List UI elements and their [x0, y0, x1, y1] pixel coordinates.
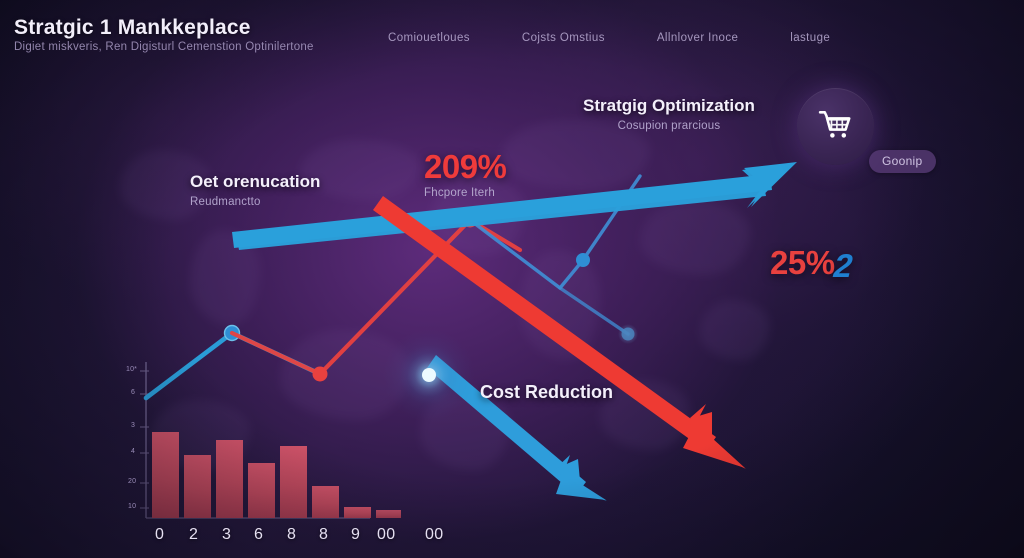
page-title: Stratgic 1 Mankkeplace: [14, 16, 251, 40]
x-tick-6: 9: [351, 526, 360, 544]
x-tick-4: 8: [287, 526, 296, 544]
stat-growth-caption: Fhcpore Iterh: [424, 187, 506, 199]
y-tick-5: 10: [128, 503, 136, 510]
label-strategic-title: Stratgig Optimization: [583, 96, 755, 116]
bar-chart-bars: [152, 432, 401, 518]
central-hub-node: [383, 329, 475, 421]
x-tick-0: 0: [155, 526, 164, 544]
nav-item-0[interactable]: Comiouetloues: [388, 32, 470, 44]
nav-item-1[interactable]: Cojsts Omstius: [522, 32, 605, 44]
y-tick-4: 20: [128, 478, 136, 485]
x-tick-5: 8: [319, 526, 328, 544]
label-strategic-optimization: Stratgig Optimization Cosupion prarcious: [583, 96, 755, 132]
nav-item-2[interactable]: Allnlover Inoce: [657, 32, 738, 44]
label-demand: Oet orenucation Reudmanctto: [190, 172, 320, 208]
label-demand-subtitle: Reudmanctto: [190, 196, 320, 208]
x-tick-8: 00: [425, 526, 444, 544]
nav-item-3[interactable]: lastuge: [790, 32, 830, 44]
x-tick-7: 00: [377, 526, 396, 544]
stat-share: 25%2: [770, 244, 852, 282]
bar-chart-y-ticks: [140, 371, 149, 508]
x-tick-2: 3: [222, 526, 231, 544]
stat-share-main: 25%: [770, 244, 835, 281]
page-subtitle: Digiet miskveris, Ren Digisturl Cemensti…: [14, 41, 314, 53]
stat-growth: 209% Fhcpore Iterh: [424, 148, 506, 199]
label-cost-reduction: Cost Reduction: [480, 382, 613, 403]
y-tick-2: 3: [131, 422, 135, 429]
bar-chart: [140, 362, 401, 518]
label-demand-title: Oet orenucation: [190, 172, 320, 192]
shopping-cart-icon: [816, 109, 856, 145]
status-badge: Goonip: [869, 150, 936, 173]
y-tick-0: 10*: [126, 366, 137, 373]
x-tick-1: 2: [189, 526, 198, 544]
y-tick-1: 6: [131, 389, 135, 396]
stat-growth-value: 209%: [424, 148, 506, 186]
main-navigation[interactable]: Comiouetloues Cojsts Omstius Allnlover I…: [388, 32, 830, 44]
data-point-marker: [313, 367, 328, 382]
label-strategic-subtitle: Cosupion prarcious: [583, 120, 755, 132]
x-tick-3: 6: [254, 526, 263, 544]
y-tick-3: 4: [131, 448, 135, 455]
cart-button[interactable]: [797, 88, 874, 165]
stat-share-value: 25%2: [770, 244, 852, 282]
graphics-layer: [0, 0, 1024, 558]
header: Stratgic 1 Mankkeplace Digiet miskveris,…: [8, 8, 1018, 64]
infographic-canvas: Stratgic 1 Mankkeplace Digiet miskveris,…: [0, 0, 1024, 558]
data-point-marker: [622, 328, 635, 341]
data-point-marker: [576, 253, 590, 267]
label-cost-title: Cost Reduction: [480, 382, 613, 403]
